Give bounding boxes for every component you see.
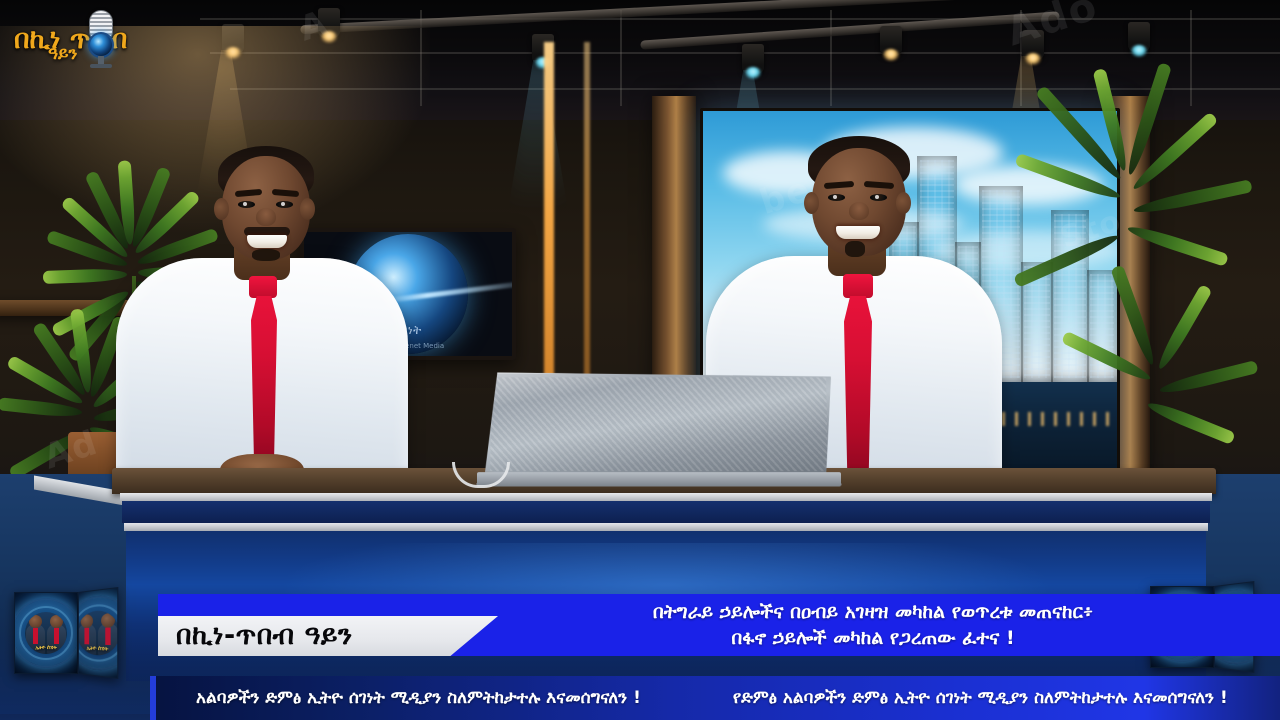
ticker-text: የድምፅ አልባዎችን ድምፅ ኢትዮ ሰገነት ሚዲያን ስለምትከታተሉ እ… [687,688,1274,708]
ticker-text: አልባዎችን ድምፅ ኢትዮ ሰገነት ሚዲያን ስለምትከታተሉ እናመሰግና… [1274,688,1280,708]
broadcast-frame: ሰገነት Ethio Segenet Media [0,0,1280,720]
presenter-smile [247,235,287,248]
headline-block: በትግራይ ኃይሎችና በዐብይ አገዛዝ መካከል የወጥረቱ መጠናከር፥ … [476,594,1270,656]
channel-badge: ኢትዮ ሰገነት [78,587,118,679]
truss-bar [200,18,1280,20]
presenter-goatee [845,241,865,257]
presenter-eye [870,194,887,201]
ticker-track: አልባዎችን ድምፅ ኢትዮ ሰገነት ሚዲያን ስለምትከታተሉ እናመሰግና… [150,676,1280,720]
presenter-nose [849,202,869,220]
lower-third-banner: በትግራይ ኃይሎችና በዐብይ አገዛዝ መካከል የወጥረቱ መጠናከር፥ … [158,594,1280,656]
stage-light [742,44,764,74]
program-label: በኪነ-ጥበብ ዓይን [158,616,498,656]
presenter-ear [896,192,911,214]
presenter-tie [844,296,872,478]
badge-caption: ኢትዮ ሰገነት [15,645,77,651]
presenter-left [116,150,408,490]
channel-badge: ኢትዮ ሰገነት [14,592,78,674]
presenter-eye [276,201,293,208]
channel-logo-subtext: ዓይን [48,44,77,64]
channel-logo: በኪነ ጥበብ ዓይን [14,8,186,70]
desk-laptop [485,372,833,476]
presenter-smile [836,226,880,239]
presenter-tie-knot [249,276,277,298]
presenter-nose [256,208,276,226]
presenter-ear [300,198,315,220]
desk-trim-upper [120,493,1212,501]
presenter-chin-beard [252,249,280,261]
presenter-tie [251,296,277,468]
desk-trim-lower [124,523,1208,531]
presenter-eye [238,201,255,208]
presenter-tie-knot [843,274,873,298]
presenter-eye [828,194,845,201]
badge-group-left: ኢትዮ ሰገነት ኢትዮ ሰገነት [14,592,118,674]
microphone-icon [84,10,118,68]
presenter-ear [214,198,229,220]
laptop-lid [485,372,833,476]
headline-line-2: በፋኖ ኃይሎች መካከል የጋረጠው ፈተና ! [731,625,1014,651]
news-ticker: አልባዎችን ድምፅ ኢትዮ ሰገነት ሚዲያን ስለምትከታተሉ እናመሰግና… [150,676,1280,720]
truss-bar [830,10,832,106]
stage-light [880,26,902,56]
ticker-text: አልባዎችን ድምፅ ኢትዮ ሰገነት ሚዲያን ስለምትከታተሉ እናመሰግና… [150,688,687,708]
desk-blue-band [122,501,1210,523]
presenter-ear [804,192,819,214]
studio-plant [1000,40,1280,510]
headline-line-1: በትግራይ ኃይሎችና በዐብይ አገዛዝ መካከል የወጥረቱ መጠናከር፥ [653,599,1093,625]
laptop-base [477,472,842,486]
program-label-text: በኪነ-ጥበብ ዓይን [158,620,353,652]
